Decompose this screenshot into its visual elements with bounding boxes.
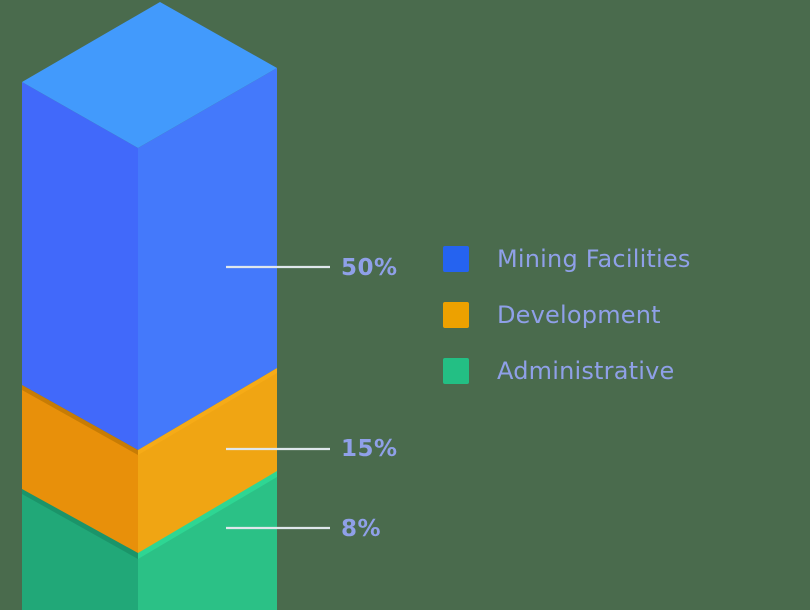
legend-swatch-development [443, 302, 469, 328]
legend-label-mining-facilities: Mining Facilities [497, 245, 691, 273]
callout-value-50: 50% [341, 255, 398, 281]
legend-item-mining-facilities[interactable]: Mining Facilities [443, 231, 773, 287]
chart-root: 50% 15% 8% Mining Facilities Development… [0, 0, 810, 610]
chart-legend: Mining Facilities Development Administra… [443, 231, 773, 399]
callout-value-8: 8% [341, 516, 381, 542]
legend-item-administrative[interactable]: Administrative [443, 343, 773, 399]
legend-label-administrative: Administrative [497, 357, 675, 385]
bar-segment-mining-facilities[interactable] [22, 2, 277, 450]
callout-value-15: 15% [341, 436, 398, 462]
legend-label-development: Development [497, 301, 661, 329]
legend-swatch-administrative [443, 358, 469, 384]
legend-swatch-mining-facilities [443, 246, 469, 272]
legend-item-development[interactable]: Development [443, 287, 773, 343]
